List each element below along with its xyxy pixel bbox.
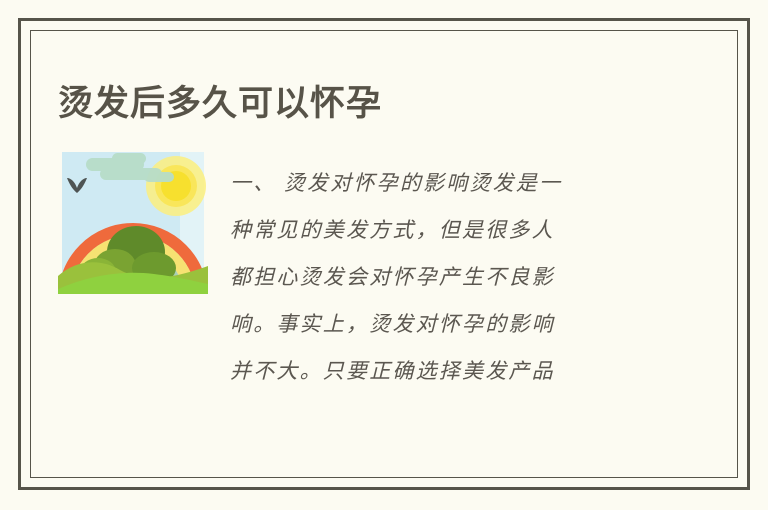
body-line: 都担心烫发会对怀孕产生不良影 xyxy=(230,254,654,301)
page-title: 烫发后多久可以怀孕 xyxy=(58,81,698,127)
body-line: 一、 烫发对怀孕的影响烫发是一 xyxy=(230,160,654,207)
body-line: 种常见的美发方式，但是很多人 xyxy=(230,207,654,254)
rainbow-landscape-illustration xyxy=(58,148,208,298)
body-line: 响。事实上，烫发对怀孕的影响 xyxy=(230,301,654,348)
article-card: 烫发后多久可以怀孕 xyxy=(0,0,768,510)
body-line: 并不大。只要正确选择美发产品 xyxy=(230,348,654,395)
article-body-text: 一、 烫发对怀孕的影响烫发是一 种常见的美发方式，但是很多人 都担心烫发会对怀孕… xyxy=(230,160,654,395)
article-content: 一、 烫发对怀孕的影响烫发是一 种常见的美发方式，但是很多人 都担心烫发会对怀孕… xyxy=(58,148,698,408)
